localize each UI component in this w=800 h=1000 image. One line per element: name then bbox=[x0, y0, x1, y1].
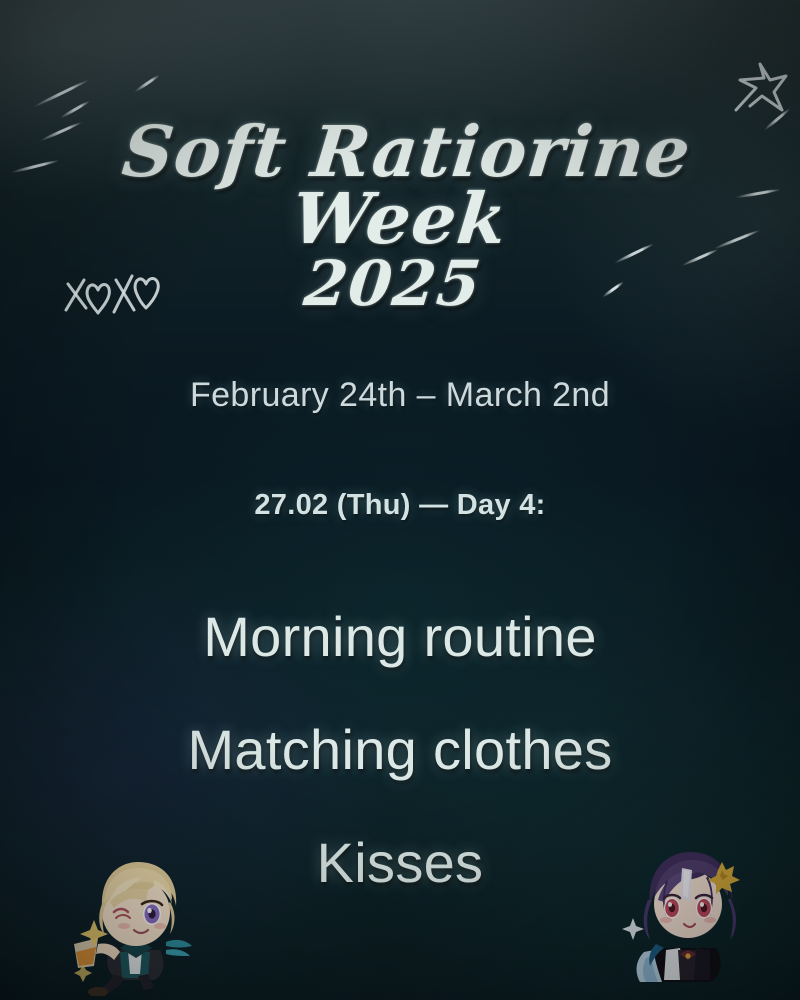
prompt-item: Kisses bbox=[317, 830, 484, 895]
poster-canvas: Soft Ratiorine Week 2025 February 24th –… bbox=[0, 0, 800, 1000]
title-line-2: 2025 bbox=[14, 254, 772, 314]
blond-chibi-sticker bbox=[58, 846, 198, 996]
prompt-item: Matching clothes bbox=[187, 717, 612, 782]
day-heading: 27.02 (Thu) — Day 4: bbox=[254, 489, 545, 522]
date-range: February 24th – March 2nd bbox=[190, 376, 610, 415]
page-title: Soft Ratiorine Week 2025 bbox=[0, 118, 800, 314]
title-line-1: Soft Ratiorine Week bbox=[119, 110, 695, 260]
purple-haired-chibi-sticker bbox=[610, 840, 760, 990]
prompt-item: Morning routine bbox=[203, 604, 597, 669]
